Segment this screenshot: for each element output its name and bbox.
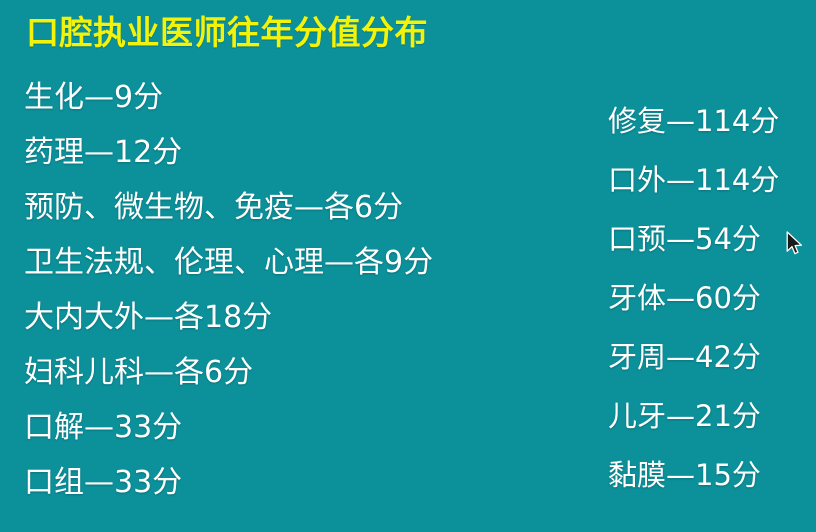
- list-item: 口外—114分: [608, 151, 816, 210]
- list-item: 生化—9分: [24, 70, 564, 125]
- page-title: 口腔执业医师往年分值分布: [26, 12, 428, 54]
- right-score-column: 修复—114分 口外—114分 口预—54分 牙体—60分 牙周—42分 儿牙—…: [608, 92, 816, 505]
- list-item: 卫生法规、伦理、心理—各9分: [24, 235, 564, 290]
- list-item: 修复—114分: [608, 92, 816, 151]
- list-item: 药理—12分: [24, 125, 564, 180]
- list-item: 牙体—60分: [608, 269, 816, 328]
- list-item: 口组—33分: [24, 455, 564, 510]
- list-item: 黏膜—15分: [608, 446, 816, 505]
- list-item: 妇科儿科—各6分: [24, 345, 564, 400]
- list-item: 儿牙—21分: [608, 387, 816, 446]
- left-score-column: 生化—9分 药理—12分 预防、微生物、免疫—各6分 卫生法规、伦理、心理—各9…: [24, 70, 564, 510]
- list-item: 口解—33分: [24, 400, 564, 455]
- list-item: 口预—54分: [608, 210, 816, 269]
- list-item: 大内大外—各18分: [24, 290, 564, 345]
- slide-canvas: 口腔执业医师往年分值分布 生化—9分 药理—12分 预防、微生物、免疫—各6分 …: [0, 0, 816, 532]
- list-item: 牙周—42分: [608, 328, 816, 387]
- list-item: 预防、微生物、免疫—各6分: [24, 180, 564, 235]
